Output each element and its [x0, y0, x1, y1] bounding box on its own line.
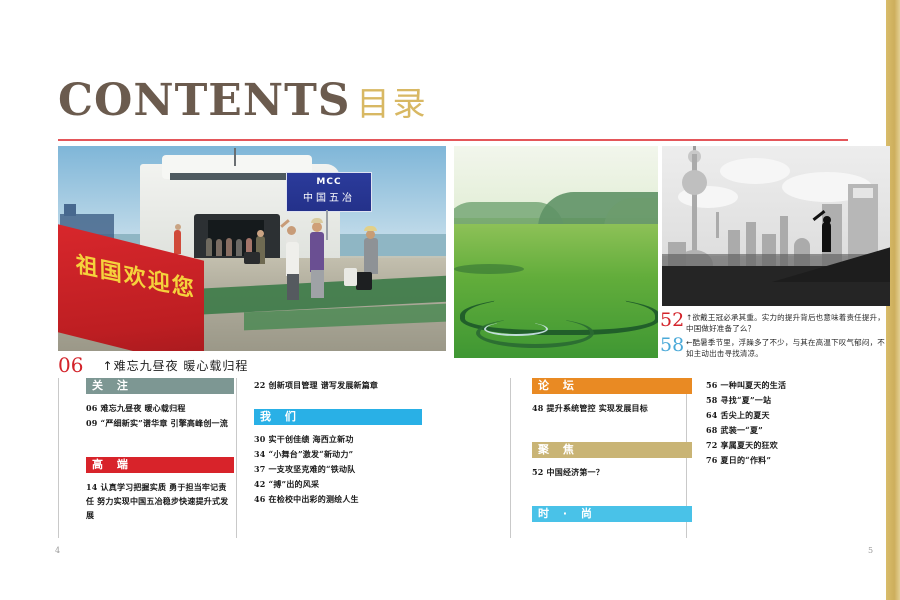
- entry-title: “严细新实”谱华章 引擎高峰创一流: [101, 418, 228, 428]
- waver-head: [287, 226, 296, 235]
- crowd-person: [236, 239, 242, 256]
- column-divider: [510, 378, 511, 538]
- column-three: 论 坛 48提升系统管控 实现发展目标 聚 焦 52中国经济第一？ 时 · 尚: [532, 378, 692, 529]
- crowd-person: [206, 238, 212, 256]
- entry-title: 一支攻坚克难的“铁动队: [269, 464, 356, 474]
- entry-title: 一种叫夏天的生活: [721, 380, 787, 390]
- pearl-tower-upper-sphere: [682, 170, 707, 195]
- mcc-sign-text: 中国五冶: [287, 189, 371, 204]
- toc-entry[interactable]: 14认真学习把握实质 勇于担当牢记责任 努力实现中国五冶稳步快速提升式发展: [86, 480, 234, 522]
- right-person: [364, 238, 378, 274]
- entry-title: “小舞台”激发“新动力”: [269, 449, 354, 459]
- entry-title: 认真学习把握实质 勇于担当牢记责任 努力实现中国五冶稳步快速提升式发展: [86, 482, 228, 520]
- title-english: CONTENTS: [58, 78, 351, 124]
- toc-entry[interactable]: 30实干创佳绩 海西立新功: [254, 432, 422, 446]
- column-divider: [236, 378, 237, 538]
- column-four: 56一种叫夏天的生活 58寻找“夏”一站 64舌尖上的夏天 68武装一“夏” 7…: [706, 378, 892, 468]
- antenna-mast: [716, 212, 719, 238]
- front-person-legs: [311, 270, 324, 298]
- entry-page-number: 42: [254, 479, 266, 489]
- entry-page-number: 06: [86, 403, 98, 413]
- front-person-head: [312, 222, 322, 232]
- toc-entry[interactable]: 42“搏”出的风采: [254, 477, 422, 491]
- entry-title: 寻找“夏”一站: [721, 395, 772, 405]
- toc-entry[interactable]: 64舌尖上的夏天: [706, 408, 892, 422]
- white-bag: [344, 268, 357, 286]
- entry-page-number: 56: [706, 380, 718, 390]
- port-ferry-photo: 祖国欢迎您 MCC 中国五冶: [58, 146, 446, 351]
- entry-title: 享属夏天的狂欢: [721, 440, 778, 450]
- entry-page-number: 68: [706, 425, 718, 435]
- luggage: [356, 272, 372, 290]
- staff-head: [175, 224, 181, 230]
- cap: [311, 218, 323, 223]
- title-chinese: 目录: [357, 81, 429, 127]
- mcc-sign: MCC 中国五冶: [286, 172, 372, 212]
- entry-title: 武装一“夏”: [721, 425, 763, 435]
- caption-entry: 58 ←酷暑季节里，浮躁多了不少，与其在高温下叹气郁闷，不如主动出击寻找清凉。: [660, 337, 888, 359]
- entry-title: 实干创佳绩 海西立新功: [269, 434, 354, 444]
- front-person: [310, 232, 324, 272]
- section-heading-gaoduan: 高 端: [86, 457, 234, 473]
- toc-entry[interactable]: 52中国经济第一？: [532, 465, 692, 479]
- water-highlight: [484, 322, 548, 336]
- silhouette-figure: [822, 222, 831, 252]
- crowd-person: [226, 238, 232, 256]
- entry-page-number: 22: [254, 380, 266, 390]
- shanghai-skyline-photo: [662, 146, 890, 306]
- entry-title: “搏”出的风采: [269, 479, 320, 489]
- section-heading-women: 我 们: [254, 409, 422, 425]
- entry-title: 夏日的“作料”: [721, 455, 772, 465]
- caption-text: ↑欲戴王冠必承其重。实力的提升背后也意味着责任提升，中国做好准备了么？: [686, 312, 888, 334]
- toc-entry[interactable]: 76夏日的“作料”: [706, 453, 892, 467]
- section-spacer: [86, 431, 234, 457]
- caption-text: ↑难忘九昼夜 暖心载归程: [103, 357, 249, 374]
- grassland-river-photo: [454, 146, 658, 358]
- main-photo-caption: 06 ↑难忘九昼夜 暖心载归程: [58, 353, 458, 375]
- entry-page-number: 76: [706, 455, 718, 465]
- entry-title: 难忘九昼夜 暖心载归程: [101, 403, 186, 413]
- title-divider: [58, 139, 848, 141]
- yellow-cap: [364, 226, 377, 231]
- entry-page-number: 52: [532, 467, 544, 477]
- entry-title: 提升系统管控 实现发展目标: [547, 403, 648, 413]
- section-heading-shishang: 时 · 尚: [532, 506, 692, 522]
- page-number-right: 5: [868, 546, 873, 555]
- section-heading-guanzhu: 关 注: [86, 378, 234, 394]
- mcc-sign-logo: MCC: [287, 177, 371, 187]
- vegetation-patch: [454, 264, 524, 274]
- toc-entry[interactable]: 72享属夏天的狂欢: [706, 438, 892, 452]
- section-spacer: [254, 393, 422, 409]
- toc-entry[interactable]: 06难忘九昼夜 暖心载归程: [86, 401, 234, 415]
- column-two: 22创新项目管理 谱写发展新篇章 我 们 30实干创佳绩 海西立新功 34“小舞…: [254, 378, 422, 507]
- toc-entry[interactable]: 09“严细新实”谱华章 引擎高峰创一流: [86, 416, 234, 430]
- second-person: [286, 242, 299, 276]
- entry-page-number: 46: [254, 494, 266, 504]
- walker-head: [257, 230, 264, 237]
- column-divider: [58, 378, 59, 538]
- magazine-contents-page: CONTENTS目录: [0, 0, 900, 600]
- right-photo-captions: 52 ↑欲戴王冠必承其重。实力的提升背后也意味着责任提升，中国做好准备了么？ 5…: [660, 312, 888, 362]
- entry-title: 在检校中出彩的测绘人生: [269, 494, 359, 504]
- caption-text: ←酷暑季节里，浮躁多了不少，与其在高温下叹气郁闷，不如主动出击寻找清凉。: [686, 337, 888, 359]
- section-spacer: [532, 480, 692, 506]
- toc-entry[interactable]: 58寻找“夏”一站: [706, 393, 892, 407]
- right-person-head: [366, 230, 375, 239]
- entry-page-number: 72: [706, 440, 718, 450]
- wfc-aperture: [853, 188, 873, 198]
- sign-pole: [326, 210, 328, 240]
- crowd-person: [216, 239, 222, 256]
- contents-columns: 关 注 06难忘九昼夜 暖心载归程 09“严细新实”谱华章 引擎高峰创一流 高 …: [58, 378, 890, 540]
- toc-entry[interactable]: 34“小舞台”激发“新动力”: [254, 447, 422, 461]
- caption-page-number: 58: [660, 337, 686, 353]
- toc-entry[interactable]: 46在检校中出彩的测绘人生: [254, 492, 422, 506]
- toc-entry[interactable]: 37一支攻坚克难的“铁动队: [254, 462, 422, 476]
- caption-page-number: 52: [660, 312, 686, 328]
- ferry-windows: [170, 173, 300, 180]
- entry-page-number: 09: [86, 418, 98, 428]
- entry-title: 舌尖上的夏天: [721, 410, 770, 420]
- second-person-legs: [287, 274, 299, 300]
- section-heading-jujiao: 聚 焦: [532, 442, 692, 458]
- port-crane-top: [64, 204, 76, 216]
- caption-entry: 52 ↑欲戴王冠必承其重。实力的提升背后也意味着责任提升，中国做好准备了么？: [660, 312, 888, 334]
- page-title: CONTENTS目录: [58, 78, 848, 134]
- section-heading-luntan: 论 坛: [532, 378, 692, 394]
- toc-entry[interactable]: 68武装一“夏”: [706, 423, 892, 437]
- entry-page-number: 48: [532, 403, 544, 413]
- toc-entry[interactable]: 48提升系统管控 实现发展目标: [532, 401, 692, 415]
- toc-entry[interactable]: 22创新项目管理 谱写发展新篇章: [254, 378, 422, 392]
- entry-page-number: 30: [254, 434, 266, 444]
- entry-page-number: 37: [254, 464, 266, 474]
- entry-page-number: 64: [706, 410, 718, 420]
- suitcase: [244, 252, 260, 264]
- entry-title: 中国经济第一？: [547, 467, 604, 477]
- caption-page-number: 06: [58, 353, 83, 377]
- staff-person: [174, 230, 181, 254]
- page-number-left: 4: [55, 546, 60, 555]
- toc-entry[interactable]: 56一种叫夏天的生活: [706, 378, 892, 392]
- ferry-mast: [234, 148, 236, 166]
- cloud: [720, 158, 790, 184]
- entry-page-number: 14: [86, 482, 98, 492]
- section-spacer: [532, 416, 692, 442]
- entry-page-number: 34: [254, 449, 266, 459]
- column-one: 关 注 06难忘九昼夜 暖心载归程 09“严细新实”谱华章 引擎高峰创一流 高 …: [86, 378, 234, 523]
- entry-page-number: 58: [706, 395, 718, 405]
- entry-title: 创新项目管理 谱写发展新篇章: [269, 380, 379, 390]
